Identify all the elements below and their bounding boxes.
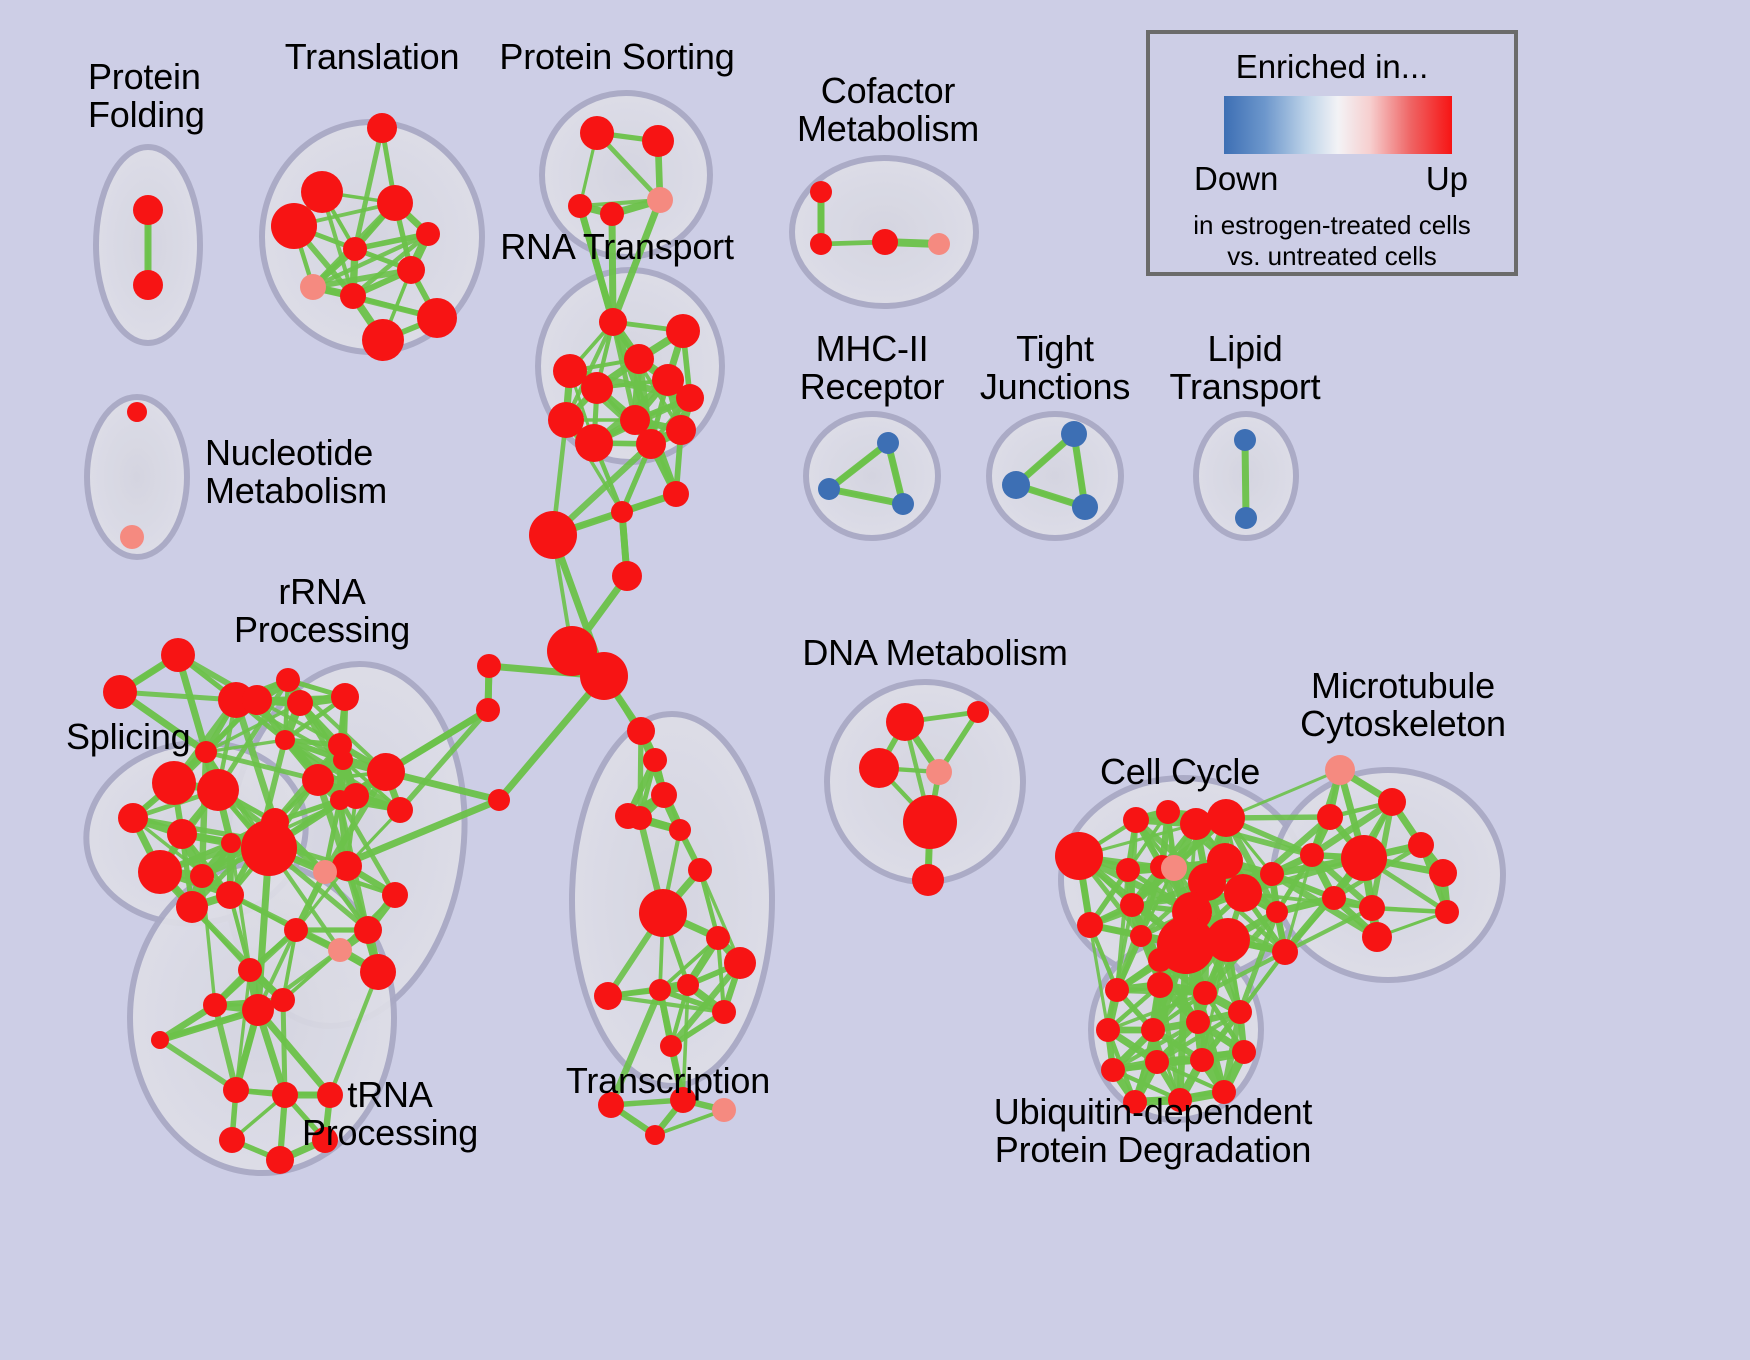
legend-title: Enriched in... xyxy=(1150,48,1514,86)
network-node[interactable] xyxy=(176,891,208,923)
network-node[interactable] xyxy=(712,1098,736,1122)
network-node[interactable] xyxy=(118,803,148,833)
cluster-label-rrna-processing: rRNA Processing xyxy=(234,573,410,649)
network-node[interactable] xyxy=(360,954,396,990)
network-node[interactable] xyxy=(1147,972,1173,998)
network-node[interactable] xyxy=(1325,755,1355,785)
network-node[interactable] xyxy=(271,988,295,1012)
network-node[interactable] xyxy=(340,283,366,309)
network-node[interactable] xyxy=(529,511,577,559)
network-node[interactable] xyxy=(928,233,950,255)
cluster-label-tight-junctions: Tight Junctions xyxy=(980,330,1130,406)
network-node[interactable] xyxy=(575,424,613,462)
cluster-label-splicing: Splicing xyxy=(66,718,190,756)
network-node[interactable] xyxy=(416,222,440,246)
network-node[interactable] xyxy=(1055,832,1103,880)
network-node[interactable] xyxy=(1116,858,1140,882)
network-node[interactable] xyxy=(1235,507,1257,529)
network-node[interactable] xyxy=(223,1077,249,1103)
network-node[interactable] xyxy=(397,256,425,284)
network-node[interactable] xyxy=(1072,494,1098,520)
network-node[interactable] xyxy=(275,730,295,750)
network-node[interactable] xyxy=(387,797,413,823)
enrichment-map-figure: Protein FoldingTranslationProtein Sortin… xyxy=(0,0,1750,1360)
network-node[interactable] xyxy=(1206,918,1250,962)
network-node[interactable] xyxy=(600,202,624,226)
cluster-label-lipid-transport: Lipid Transport xyxy=(1170,330,1321,406)
network-node[interactable] xyxy=(167,819,197,849)
network-node[interactable] xyxy=(300,274,326,300)
network-node[interactable] xyxy=(580,116,614,150)
network-node[interactable] xyxy=(362,319,404,361)
cluster-label-mhc-ii-receptor: MHC-II Receptor xyxy=(800,330,944,406)
network-node[interactable] xyxy=(488,789,510,811)
network-node[interactable] xyxy=(284,918,308,942)
network-node[interactable] xyxy=(1429,859,1457,887)
network-node[interactable] xyxy=(287,690,313,716)
network-node[interactable] xyxy=(912,864,944,896)
network-node[interactable] xyxy=(643,748,667,772)
network-node[interactable] xyxy=(706,926,730,950)
network-node[interactable] xyxy=(242,994,274,1026)
network-node[interactable] xyxy=(967,701,989,723)
cluster-label-translation: Translation xyxy=(285,38,460,76)
network-node[interactable] xyxy=(477,654,501,678)
network-node[interactable] xyxy=(642,125,674,157)
network-node[interactable] xyxy=(1105,978,1129,1002)
cluster-label-cell-cycle: Cell Cycle xyxy=(1100,753,1260,791)
network-node[interactable] xyxy=(677,974,699,996)
network-node[interactable] xyxy=(1362,922,1392,952)
network-node[interactable] xyxy=(1300,843,1324,867)
network-node[interactable] xyxy=(1272,939,1298,965)
network-node[interactable] xyxy=(624,344,654,374)
network-node[interactable] xyxy=(1341,835,1387,881)
network-edge xyxy=(499,676,604,800)
network-node[interactable] xyxy=(1224,874,1262,912)
network-node[interactable] xyxy=(382,882,408,908)
network-node[interactable] xyxy=(138,850,182,894)
network-node[interactable] xyxy=(1193,981,1217,1005)
network-node[interactable] xyxy=(242,685,272,715)
network-node[interactable] xyxy=(580,652,628,700)
network-node[interactable] xyxy=(1130,925,1152,947)
network-node[interactable] xyxy=(581,372,613,404)
network-node[interactable] xyxy=(331,683,359,711)
network-node[interactable] xyxy=(627,717,655,745)
cluster-label-cofactor-metabolism: Cofactor Metabolism xyxy=(797,72,979,148)
network-node[interactable] xyxy=(926,759,952,785)
network-node[interactable] xyxy=(676,384,704,412)
network-edge xyxy=(1245,440,1246,518)
cluster-label-dna-metabolism: DNA Metabolism xyxy=(802,634,1067,672)
network-node[interactable] xyxy=(377,185,413,221)
network-node[interactable] xyxy=(1061,421,1087,447)
network-node[interactable] xyxy=(568,194,592,218)
network-node[interactable] xyxy=(1359,895,1385,921)
network-node[interactable] xyxy=(611,501,633,523)
network-node[interactable] xyxy=(649,979,671,1001)
cluster-label-trna-processing: tRNA Processing xyxy=(302,1076,478,1152)
network-node[interactable] xyxy=(301,171,343,213)
network-node[interactable] xyxy=(152,761,196,805)
network-node[interactable] xyxy=(302,764,334,796)
network-node[interactable] xyxy=(1157,916,1215,974)
network-node[interactable] xyxy=(877,432,899,454)
network-node[interactable] xyxy=(1145,1050,1169,1074)
network-node[interactable] xyxy=(272,1082,298,1108)
network-node[interactable] xyxy=(1141,1018,1165,1042)
cluster-ellipse-mhc-ii-receptor xyxy=(806,414,938,538)
network-node[interactable] xyxy=(328,938,352,962)
network-node[interactable] xyxy=(238,958,262,982)
network-node[interactable] xyxy=(669,819,691,841)
cluster-label-ubiquitin-protein-degradation: Ubiquitin-dependent Protein Degradation xyxy=(994,1093,1312,1169)
network-node[interactable] xyxy=(660,1035,682,1057)
network-node[interactable] xyxy=(1317,804,1343,830)
legend-low-label: Down xyxy=(1194,160,1278,198)
network-node[interactable] xyxy=(1161,855,1187,881)
network-node[interactable] xyxy=(1180,808,1212,840)
network-node[interactable] xyxy=(343,237,367,261)
cluster-label-rna-transport: RNA Transport xyxy=(500,228,734,266)
cluster-label-nucleotide-metabolism: Nucleotide Metabolism xyxy=(205,434,387,510)
network-node[interactable] xyxy=(1101,1058,1125,1082)
network-node[interactable] xyxy=(197,769,239,811)
network-node[interactable] xyxy=(333,750,353,770)
network-node[interactable] xyxy=(663,481,689,507)
network-node[interactable] xyxy=(417,298,457,338)
network-node[interactable] xyxy=(1123,807,1149,833)
legend-colorbar xyxy=(1224,96,1452,154)
network-node[interactable] xyxy=(1096,1018,1120,1042)
network-node[interactable] xyxy=(892,493,914,515)
network-node[interactable] xyxy=(903,795,957,849)
network-node[interactable] xyxy=(1077,912,1103,938)
network-node[interactable] xyxy=(476,698,500,722)
network-node[interactable] xyxy=(133,195,163,225)
network-node[interactable] xyxy=(332,851,362,881)
network-node[interactable] xyxy=(859,748,899,788)
network-node[interactable] xyxy=(1002,471,1030,499)
network-node[interactable] xyxy=(666,415,696,445)
network-node[interactable] xyxy=(266,1146,294,1174)
network-node[interactable] xyxy=(127,402,147,422)
legend-caption: in estrogen-treated cells vs. untreated … xyxy=(1150,210,1514,272)
network-node[interactable] xyxy=(666,314,700,348)
network-node[interactable] xyxy=(367,753,405,791)
network-node[interactable] xyxy=(203,993,227,1017)
network-node[interactable] xyxy=(241,820,297,876)
network-node[interactable] xyxy=(1408,832,1434,858)
network-node[interactable] xyxy=(151,1031,169,1049)
network-node[interactable] xyxy=(1156,800,1180,824)
network-node[interactable] xyxy=(599,308,627,336)
network-node[interactable] xyxy=(612,561,642,591)
network-node[interactable] xyxy=(271,203,317,249)
cluster-ellipse-dna-metabolism xyxy=(827,682,1023,882)
network-node[interactable] xyxy=(343,783,369,809)
legend-high-label: Up xyxy=(1426,160,1468,198)
network-node[interactable] xyxy=(1260,862,1284,886)
network-node[interactable] xyxy=(872,229,898,255)
network-node[interactable] xyxy=(1207,843,1243,879)
cluster-label-protein-folding: Protein Folding xyxy=(88,58,205,134)
network-node[interactable] xyxy=(221,833,241,853)
network-node[interactable] xyxy=(594,982,622,1010)
network-node[interactable] xyxy=(103,675,137,709)
network-node[interactable] xyxy=(1228,1000,1252,1024)
network-node[interactable] xyxy=(639,889,687,937)
network-node[interactable] xyxy=(645,1125,665,1145)
network-node[interactable] xyxy=(886,703,924,741)
network-node[interactable] xyxy=(724,947,756,979)
network-node[interactable] xyxy=(367,113,397,143)
network-node[interactable] xyxy=(712,1000,736,1024)
network-node[interactable] xyxy=(810,233,832,255)
cluster-label-protein-sorting: Protein Sorting xyxy=(499,38,734,76)
network-node[interactable] xyxy=(313,860,337,884)
network-node[interactable] xyxy=(1322,886,1346,910)
network-node[interactable] xyxy=(1207,799,1245,837)
cluster-label-transcription: Transcription xyxy=(566,1062,770,1100)
network-node[interactable] xyxy=(120,525,144,549)
network-node[interactable] xyxy=(195,741,217,763)
network-node[interactable] xyxy=(636,429,666,459)
network-node[interactable] xyxy=(628,806,652,830)
network-node[interactable] xyxy=(219,1127,245,1153)
network-node[interactable] xyxy=(1190,1048,1214,1072)
network-node[interactable] xyxy=(651,782,677,808)
network-node[interactable] xyxy=(647,187,673,213)
legend-box: Enriched in... Down Up in estrogen-treat… xyxy=(1146,30,1518,276)
network-node[interactable] xyxy=(1435,900,1459,924)
network-node[interactable] xyxy=(190,864,214,888)
network-node[interactable] xyxy=(161,638,195,672)
network-node[interactable] xyxy=(810,181,832,203)
network-node[interactable] xyxy=(133,270,163,300)
cluster-label-microtubule-cytoskeleton: Microtubule Cytoskeleton xyxy=(1300,667,1506,743)
network-node[interactable] xyxy=(1266,901,1288,923)
network-node[interactable] xyxy=(216,881,244,909)
network-node[interactable] xyxy=(1232,1040,1256,1064)
network-node[interactable] xyxy=(276,668,300,692)
network-node[interactable] xyxy=(688,858,712,882)
network-node[interactable] xyxy=(1378,788,1406,816)
network-node[interactable] xyxy=(1120,893,1144,917)
network-node[interactable] xyxy=(1234,429,1256,451)
network-node[interactable] xyxy=(1186,1010,1210,1034)
network-node[interactable] xyxy=(354,916,382,944)
network-node[interactable] xyxy=(818,478,840,500)
